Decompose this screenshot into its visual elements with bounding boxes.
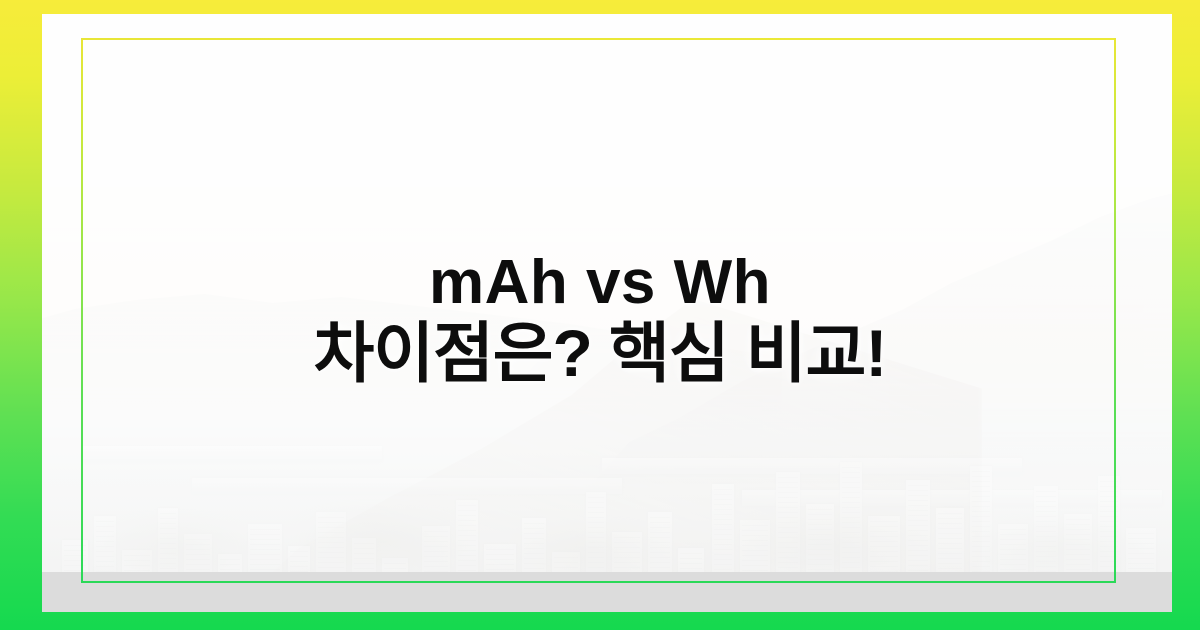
- cityscape-photo: [42, 14, 1172, 612]
- thumbnail-card: mAh vs Wh 차이점은? 핵심 비교!: [0, 0, 1200, 630]
- haze-overlay: [42, 14, 1172, 612]
- bottom-apron-band: [42, 572, 1172, 612]
- background-photo-plate: [42, 14, 1172, 612]
